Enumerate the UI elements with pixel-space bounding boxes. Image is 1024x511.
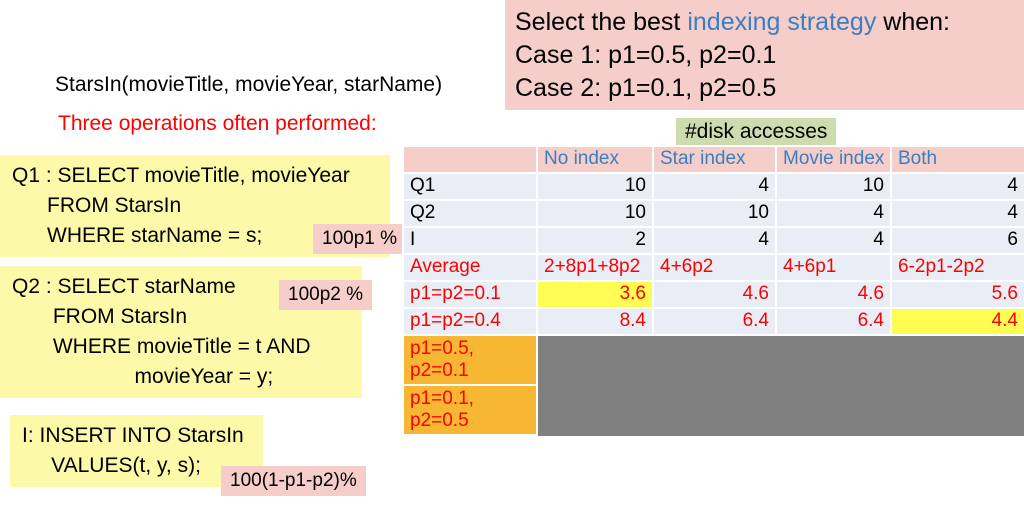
prompt-line-1-accent: indexing strategy [687, 8, 876, 36]
disk-access-table: No indexStar indexMovie indexBothQ110410… [402, 145, 1024, 436]
cell-1-1: 10 [653, 200, 776, 227]
cell-2-0: 2 [537, 227, 653, 254]
numeric-row: p1=p2=0.48.46.46.44.4 [403, 308, 1024, 335]
prompt-line-1-suffix: when: [876, 8, 950, 36]
case-row-label-1: p1=0.1,p2=0.5 [403, 385, 537, 435]
cell-2-2: 4 [776, 227, 891, 254]
average-label: Average [403, 254, 537, 281]
prompt-panel: Select the best indexing strategy when: … [505, 0, 1024, 110]
column-header-1: Star index [653, 146, 776, 173]
row-label-1: Q2 [403, 200, 537, 227]
cell-0-0: 10 [537, 173, 653, 200]
relation-schema: StarsIn(movieTitle, movieYear, starName) [55, 73, 442, 97]
numeric-cell-1-3: 4.4 [891, 308, 1024, 335]
table-corner-cell [403, 146, 537, 173]
prompt-line-1: Select the best indexing strategy when: [515, 6, 1024, 39]
cell-0-3: 4 [891, 173, 1024, 200]
case-row: p1=0.1,p2=0.5 [403, 385, 1024, 435]
row-label-0: Q1 [403, 173, 537, 200]
cell-1-3: 4 [891, 200, 1024, 227]
case-row-label-line2-0: p2=0.1 [410, 360, 530, 382]
numeric-cell-0-2: 4.6 [776, 281, 891, 308]
cell-1-2: 4 [776, 200, 891, 227]
percentage-q1: 100p1 % [313, 224, 406, 254]
table-header-row: No indexStar indexMovie indexBoth [403, 146, 1024, 173]
cost-table-body: No indexStar indexMovie indexBothQ110410… [403, 146, 1024, 435]
table-row: Q1104104 [403, 173, 1024, 200]
case-row-blank-area-1 [537, 385, 1024, 435]
case-row: p1=0.5,p2=0.1 [403, 335, 1024, 385]
numeric-cell-0-3: 5.6 [891, 281, 1024, 308]
average-cell-2: 4+6p1 [776, 254, 891, 281]
column-header-3: Both [891, 146, 1024, 173]
cell-2-3: 6 [891, 227, 1024, 254]
table-row: I2446 [403, 227, 1024, 254]
numeric-row-label-1: p1=p2=0.4 [403, 308, 537, 335]
column-header-2: Movie index [776, 146, 891, 173]
average-cell-3: 6-2p1-2p2 [891, 254, 1024, 281]
prompt-line-case-1: Case 1: p1=0.5, p2=0.1 [515, 39, 1024, 72]
average-cell-0: 2+8p1+8p2 [537, 254, 653, 281]
prompt-line-1-prefix: Select the best [515, 8, 687, 36]
table-row: Q2101044 [403, 200, 1024, 227]
cell-0-1: 4 [653, 173, 776, 200]
case-row-blank-area-0 [537, 335, 1024, 385]
numeric-cell-1-1: 6.4 [653, 308, 776, 335]
cell-1-0: 10 [537, 200, 653, 227]
percentage-q2: 100p2 % [279, 280, 372, 310]
cell-0-2: 10 [776, 173, 891, 200]
numeric-cell-1-0: 8.4 [537, 308, 653, 335]
cell-2-1: 4 [653, 227, 776, 254]
case-row-label-line2-1: p2=0.5 [410, 410, 530, 432]
numeric-cell-0-0: 3.6 [537, 281, 653, 308]
case-row-label-line1-1: p1=0.1, [410, 388, 530, 410]
cost-table: No indexStar indexMovie indexBothQ110410… [402, 145, 1024, 436]
numeric-cell-0-1: 4.6 [653, 281, 776, 308]
prompt-line-case-2: Case 2: p1=0.1, p2=0.5 [515, 72, 1024, 105]
numeric-cell-1-2: 6.4 [776, 308, 891, 335]
operations-subtitle: Three operations often performed: [58, 112, 377, 136]
average-cell-1: 4+6p2 [653, 254, 776, 281]
column-header-0: No index [537, 146, 653, 173]
case-row-label-0: p1=0.5,p2=0.1 [403, 335, 537, 385]
case-row-label-line1-0: p1=0.5, [410, 338, 530, 360]
row-label-2: I [403, 227, 537, 254]
numeric-row: p1=p2=0.13.64.64.65.6 [403, 281, 1024, 308]
numeric-row-label-0: p1=p2=0.1 [403, 281, 537, 308]
disk-accesses-tag: #disk accesses [676, 118, 836, 147]
average-row: Average2+8p1+8p24+6p24+6p16-2p1-2p2 [403, 254, 1024, 281]
percentage-insert: 100(1-p1-p2)% [221, 466, 366, 496]
slide-canvas: Select the best indexing strategy when: … [0, 0, 1024, 511]
